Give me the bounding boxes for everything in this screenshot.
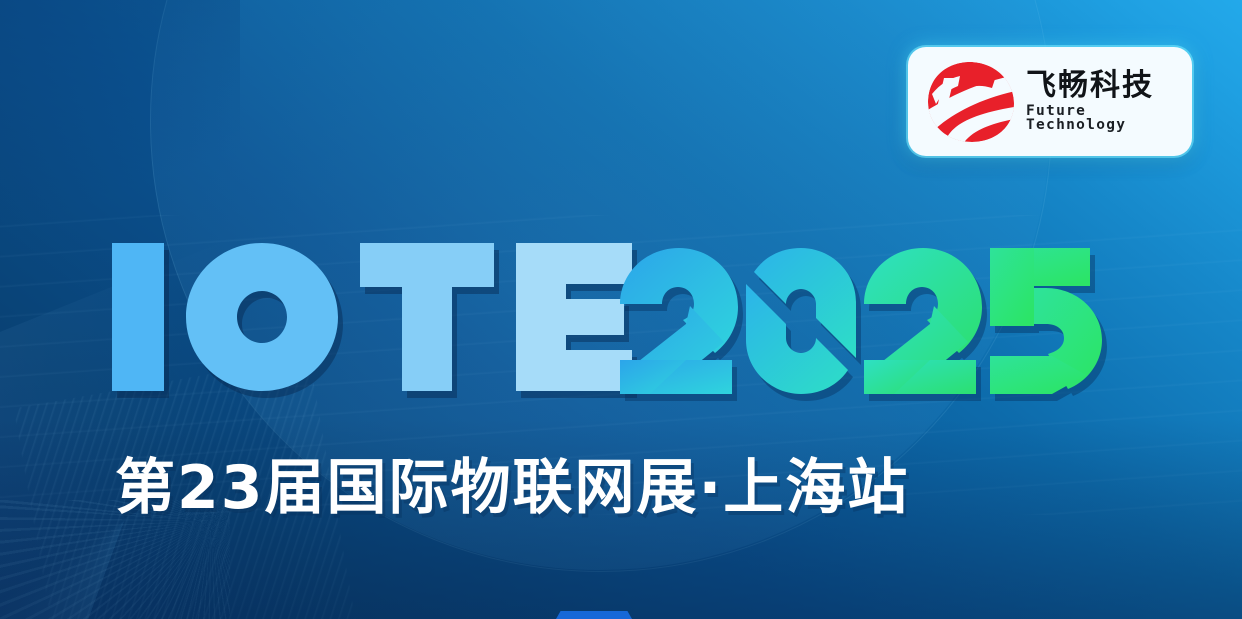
event-subtitle: 第23届国际物联网展·上海站 [115,455,909,522]
iote-letter-i [112,243,164,391]
company-logo-badge[interactable]: 飞畅科技 Future Technology [908,47,1192,156]
facet-top-left-decoration [0,0,240,260]
iote-letter-t [360,243,494,391]
company-name-cn: 飞畅科技 [1026,71,1178,101]
year-digit-2-second [864,248,982,394]
year-2025-mark [612,248,1102,396]
year-digit-5 [990,248,1102,394]
company-name-en: Future Technology [1026,104,1178,133]
iote-letter-o [186,243,338,391]
iote-wordmark [112,243,632,393]
feichang-red-globe-mark [924,60,1016,144]
year-digit-2-first [620,248,738,394]
bottom-tab-indicator[interactable] [556,611,632,619]
company-logo-text: 飞畅科技 Future Technology [1026,71,1178,133]
year-digit-0 [746,248,856,394]
iote-2025-banner: 飞畅科技 Future Technology [0,0,1242,619]
